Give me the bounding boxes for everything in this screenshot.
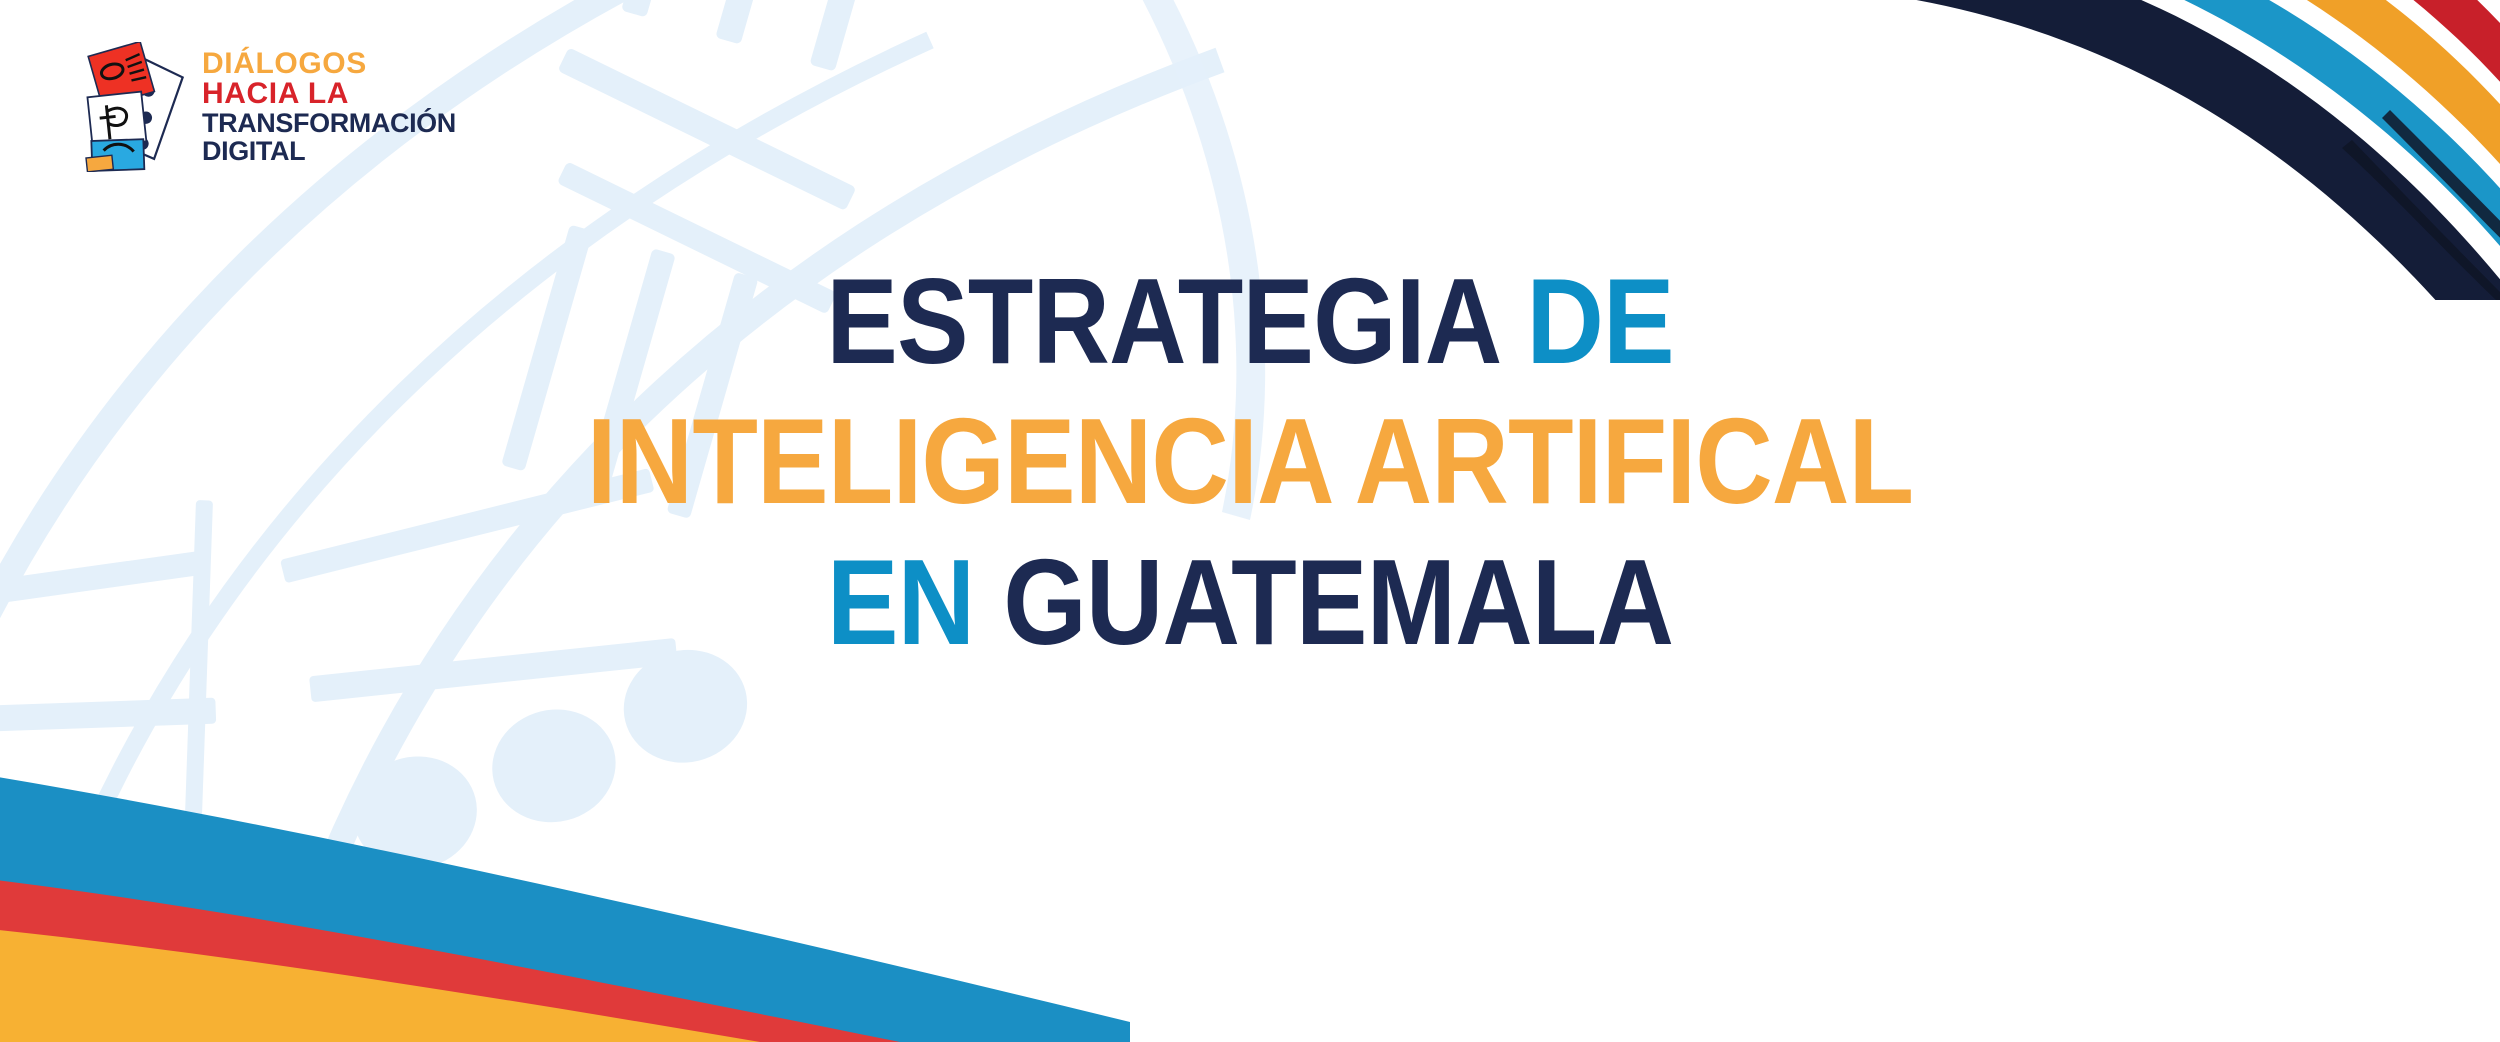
headline-words-inteligencia-artifical: INTELIGENCIA ARTIFICAL	[587, 393, 1914, 529]
bottom-left-wave-stack	[0, 712, 1400, 1042]
dialogos-card-fan-mark-icon	[78, 42, 188, 172]
title-slide: DIÁLOGOS HACIA LA TRANSFORMACIÓN DIGITAL…	[0, 0, 2500, 1042]
logo-wordmark: DIÁLOGOS HACIA LA TRANSFORMACIÓN DIGITAL	[202, 49, 456, 165]
logo-line-2: HACIA LA	[202, 79, 456, 110]
headline-word-guatemala: GUATEMALA	[1003, 534, 1673, 670]
headline-word-en: EN	[827, 534, 974, 670]
headline-word-de: DE	[1526, 253, 1673, 389]
headline-line-2: INTELIGENCIA ARTIFICAL	[150, 402, 2350, 520]
logo-line-4: DIGITAL	[202, 138, 456, 166]
logo-line-3: TRANSFORMACIÓN	[202, 110, 456, 138]
page-title: ESTRATEGIA DE INTELIGENCIA ARTIFICAL EN …	[0, 262, 2500, 661]
logo-line-1: DIÁLOGOS	[202, 49, 456, 80]
brand-logo: DIÁLOGOS HACIA LA TRANSFORMACIÓN DIGITAL	[78, 42, 456, 172]
headline-line-3: EN GUATEMALA	[150, 543, 2350, 661]
top-right-ribbon-arc	[1740, 0, 2500, 300]
headline-line-1: ESTRATEGIA DE	[150, 262, 2350, 380]
headline-word-estrategia: ESTRATEGIA	[826, 253, 1497, 389]
